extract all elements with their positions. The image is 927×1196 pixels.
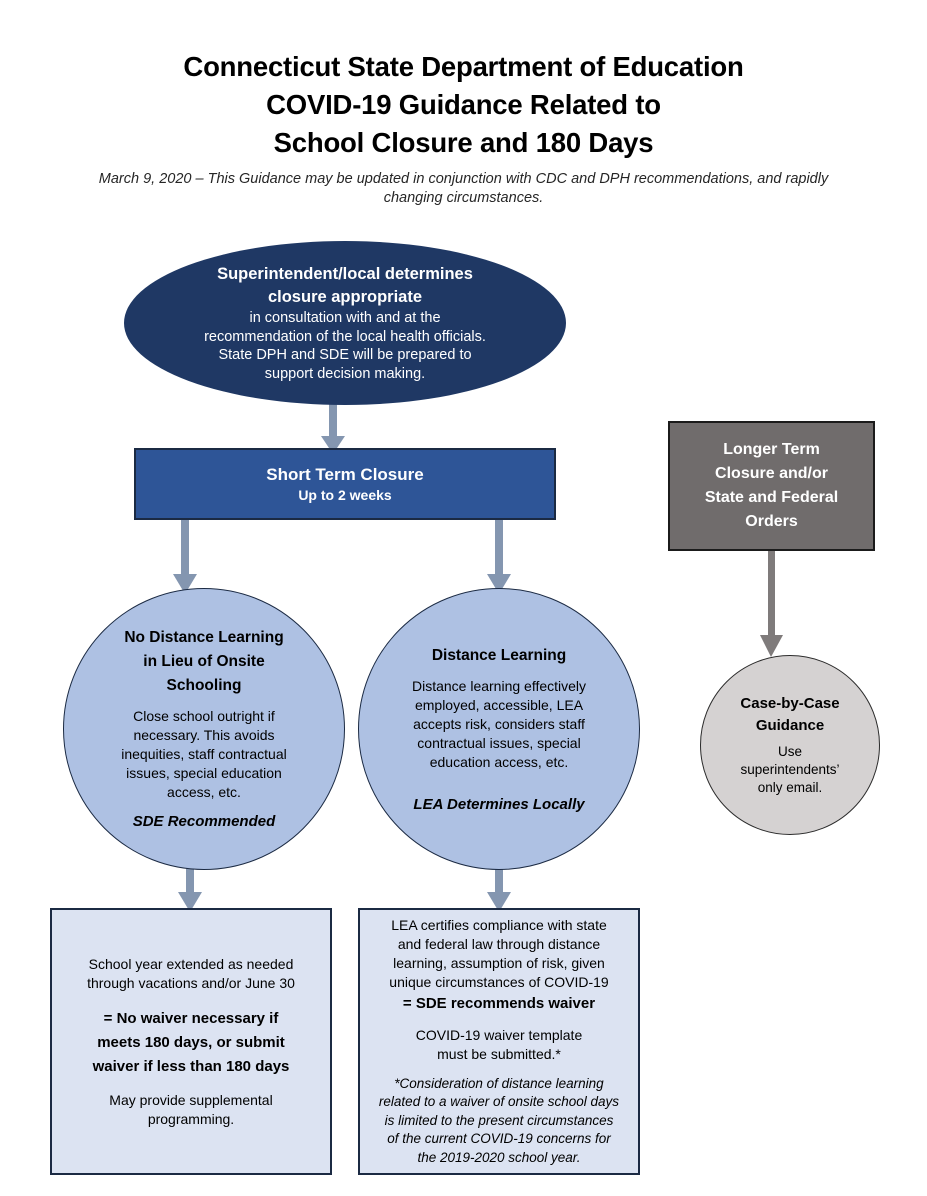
node-distance-learning[interactable]: Distance Learning Distance learning effe… [358,588,640,870]
node-case-by-case-heading-line-1: Case-by-Case [740,693,839,715]
node-extended-year-body-line-4: programming. [148,1110,234,1129]
node-longer-term-heading-line-3: State and Federal [705,486,838,510]
node-no-distance-learning[interactable]: No Distance Learning in Lieu of Onsite S… [63,588,345,870]
node-no-distance-learning-heading-line-1: No Distance Learning [124,626,283,650]
connector-longer-term-to-case-by-case [757,549,787,661]
node-longer-term-closure-orders[interactable]: Longer Term Closure and/or State and Fed… [668,421,875,551]
node-no-distance-learning-body-line-1: Close school outright if [133,707,275,726]
node-short-term-closure-heading: Short Term Closure [266,464,423,486]
node-case-by-case-body-line-2: superintendents’ [740,761,839,779]
node-case-by-case-body-line-1: Use [778,743,802,761]
node-lea-certifies-body-line-2: and federal law through distance [398,935,600,954]
node-lea-certifies-bold-line-1: = SDE recommends waiver [403,992,595,1016]
node-lea-certifies-note-line-3: is limited to the present circumstances [385,1112,614,1131]
node-no-distance-learning-body-line-4: issues, special education [126,764,282,783]
page-title-line-2: COVID-19 Guidance Related to [0,86,927,124]
node-lea-certifies-note-line-4: of the current COVID-19 concerns for [387,1130,611,1149]
node-no-distance-learning-body-line-2: necessary. This avoids [133,726,274,745]
node-lea-certifies-note-line-2: related to a waiver of onsite school day… [379,1093,619,1112]
node-superintendent-heading-line-1: Superintendent/local determines [217,263,473,286]
node-lea-certifies-compliance[interactable]: LEA certifies compliance with state and … [358,908,640,1175]
node-distance-learning-emphasis: LEA Determines Locally [413,794,584,815]
node-no-distance-learning-heading-line-2: in Lieu of Onsite [143,650,264,674]
node-lea-certifies-note-line-5: the 2019-2020 school year. [417,1149,580,1168]
node-no-distance-learning-body-line-3: inequities, staff contractual [121,745,287,764]
node-lea-certifies-body-line-5: COVID-19 waiver template [416,1026,583,1045]
node-no-distance-learning-body-line-5: access, etc. [167,783,241,802]
page-header: Connecticut State Department of Educatio… [0,48,927,208]
node-lea-certifies-note-line-1: *Consideration of distance learning [394,1075,603,1094]
node-superintendent-heading-line-2: closure appropriate [268,286,422,309]
page-subtitle: March 9, 2020 – This Guidance may be upd… [0,170,927,208]
node-extended-school-year[interactable]: School year extended as needed through v… [50,908,332,1175]
node-superintendent-body-line-4: support decision making. [265,365,425,384]
node-no-distance-learning-emphasis: SDE Recommended [133,811,276,832]
node-case-by-case-heading-line-2: Guidance [756,715,824,737]
node-extended-year-body-line-1: School year extended as needed [89,955,294,974]
node-short-term-closure-body: Up to 2 weeks [298,486,391,505]
node-distance-learning-body-line-1: Distance learning effectively [412,677,586,696]
node-lea-certifies-body-line-4: unique circumstances of COVID-19 [389,973,608,992]
node-superintendent-body-line-2: recommendation of the local health offic… [204,328,486,347]
node-extended-year-bold-line-3: waiver if less than 180 days [93,1055,290,1079]
node-superintendent-body-line-3: State DPH and SDE will be prepared to [218,346,471,365]
node-longer-term-heading-line-4: Orders [745,510,797,534]
node-lea-certifies-body-line-3: learning, assumption of risk, given [393,954,605,973]
node-extended-year-bold-line-1: = No waiver necessary if [104,1007,279,1031]
node-distance-learning-body-line-3: accepts risk, considers staff [413,715,585,734]
node-superintendent-body-line-1: in consultation with and at the [249,309,440,328]
page-title-line-1: Connecticut State Department of Educatio… [0,48,927,86]
page-title-line-3: School Closure and 180 Days [0,124,927,162]
connector-short-term-to-no-distance-learning [170,518,200,598]
node-extended-year-body-line-3: May provide supplemental [109,1091,272,1110]
node-distance-learning-heading: Distance Learning [432,644,566,668]
node-no-distance-learning-heading-line-3: Schooling [167,674,242,698]
node-lea-certifies-body-line-1: LEA certifies compliance with state [391,916,607,935]
node-extended-year-body-line-2: through vacations and/or June 30 [87,974,295,993]
node-distance-learning-body-line-2: employed, accessible, LEA [415,696,583,715]
node-distance-learning-body-line-5: education access, etc. [430,753,569,772]
node-distance-learning-body-line-4: contractual issues, special [417,734,580,753]
node-longer-term-heading-line-1: Longer Term [723,438,820,462]
node-longer-term-heading-line-2: Closure and/or [715,462,828,486]
flowchart-page: Connecticut State Department of Educatio… [0,0,927,1196]
node-lea-certifies-body-line-6: must be submitted.* [437,1045,561,1064]
node-extended-year-bold-line-2: meets 180 days, or submit [97,1031,285,1055]
node-case-by-case-guidance[interactable]: Case-by-Case Guidance Use superintendent… [700,655,880,835]
node-superintendent-determines-closure[interactable]: Superintendent/local determines closure … [124,241,566,405]
node-case-by-case-body-line-3: only email. [758,779,823,797]
connector-short-term-to-distance-learning [484,518,514,598]
node-short-term-closure[interactable]: Short Term Closure Up to 2 weeks [134,448,556,520]
